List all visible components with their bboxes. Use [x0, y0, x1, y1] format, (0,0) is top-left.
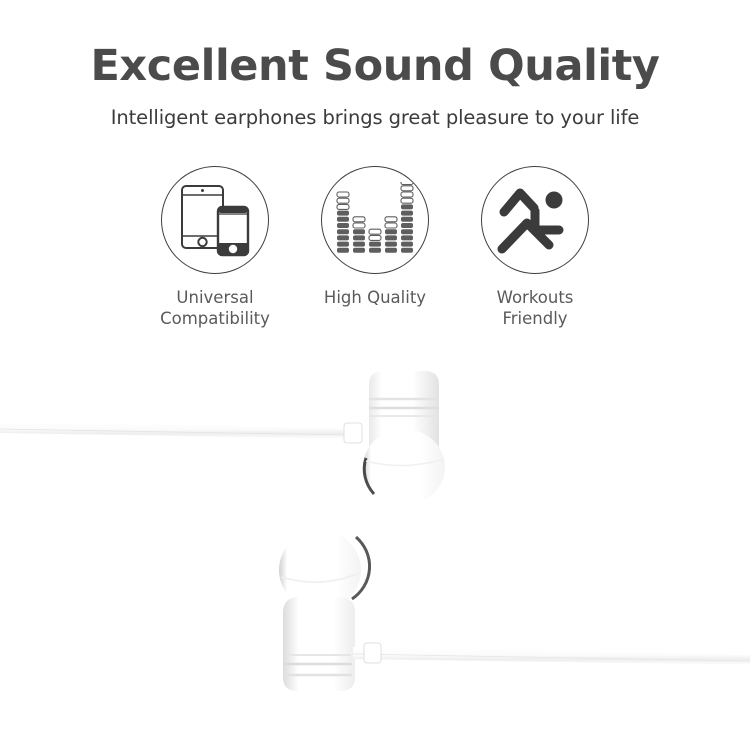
equalizer-segment: [401, 217, 413, 222]
equalizer-segment: [401, 204, 413, 209]
equalizer-segment: [337, 223, 349, 228]
equalizer-segment: [385, 223, 397, 228]
equalizer-segment: [337, 198, 349, 203]
equalizer-segment: [337, 192, 349, 197]
equalizer-segment: [337, 217, 349, 222]
feature-workouts-friendly: Workouts Friendly: [459, 166, 611, 330]
equalizer-segment: [353, 223, 365, 228]
equalizer-segment: [353, 242, 365, 247]
equalizer-segment: [401, 229, 413, 234]
feature-row: Universal Compatibility High Quality: [0, 166, 750, 330]
equalizer-segment: [337, 242, 349, 247]
lower-cable-collar: [364, 643, 381, 663]
marketing-banner: Excellent Sound Quality Intelligent earp…: [0, 0, 750, 750]
feature-icon-circle: [321, 166, 429, 274]
equalizer-segment: [401, 186, 413, 191]
page-subtitle: Intelligent earphones brings great pleas…: [0, 89, 750, 129]
header-block: Excellent Sound Quality Intelligent earp…: [0, 0, 750, 129]
upper-ear-tip: [363, 429, 445, 505]
lower-earbud-housing: [283, 597, 355, 691]
feature-high-quality: High Quality: [299, 166, 451, 309]
equalizer-icon: [336, 182, 414, 258]
upper-earbud: [0, 371, 445, 505]
equalizer-segment: [337, 235, 349, 240]
equalizer-segment: [337, 211, 349, 216]
equalizer-segment: [401, 223, 413, 228]
equalizer-segment: [337, 248, 349, 253]
product-photo: [0, 355, 750, 750]
tablet-phone-icon: [179, 183, 251, 257]
equalizer-segment: [401, 248, 413, 253]
equalizer-segment: [353, 248, 365, 253]
equalizer-segment: [369, 229, 381, 234]
equalizer-segment: [353, 229, 365, 234]
equalizer-segment: [401, 192, 413, 197]
feature-label: Universal Compatibility: [160, 288, 270, 330]
feature-label: High Quality: [324, 288, 426, 309]
equalizer-segment: [401, 182, 413, 185]
equalizer-segment: [337, 204, 349, 209]
lower-earbud: [279, 530, 750, 691]
equalizer-segment: [401, 242, 413, 247]
feature-icon-circle: [161, 166, 269, 274]
equalizer-segment: [385, 235, 397, 240]
equalizer-segment: [337, 229, 349, 234]
equalizer-segment: [401, 235, 413, 240]
equalizer-segment: [385, 248, 397, 253]
equalizer-segment: [369, 242, 381, 247]
runner-icon: [497, 185, 573, 255]
page-title: Excellent Sound Quality: [0, 0, 750, 89]
feature-universal-compatibility: Universal Compatibility: [139, 166, 291, 330]
lower-cable: [353, 647, 750, 665]
feature-icon-circle: [481, 166, 589, 274]
equalizer-segment: [369, 248, 381, 253]
equalizer-segment: [353, 217, 365, 222]
upper-cable-collar: [344, 423, 362, 443]
equalizer-segment: [385, 242, 397, 247]
equalizer-segment: [353, 235, 365, 240]
equalizer-segment: [369, 235, 381, 240]
feature-label: Workouts Friendly: [497, 288, 574, 330]
equalizer-segment: [385, 229, 397, 234]
equalizer-segment: [401, 198, 413, 203]
equalizer-segment: [401, 211, 413, 216]
equalizer-segment: [385, 217, 397, 222]
